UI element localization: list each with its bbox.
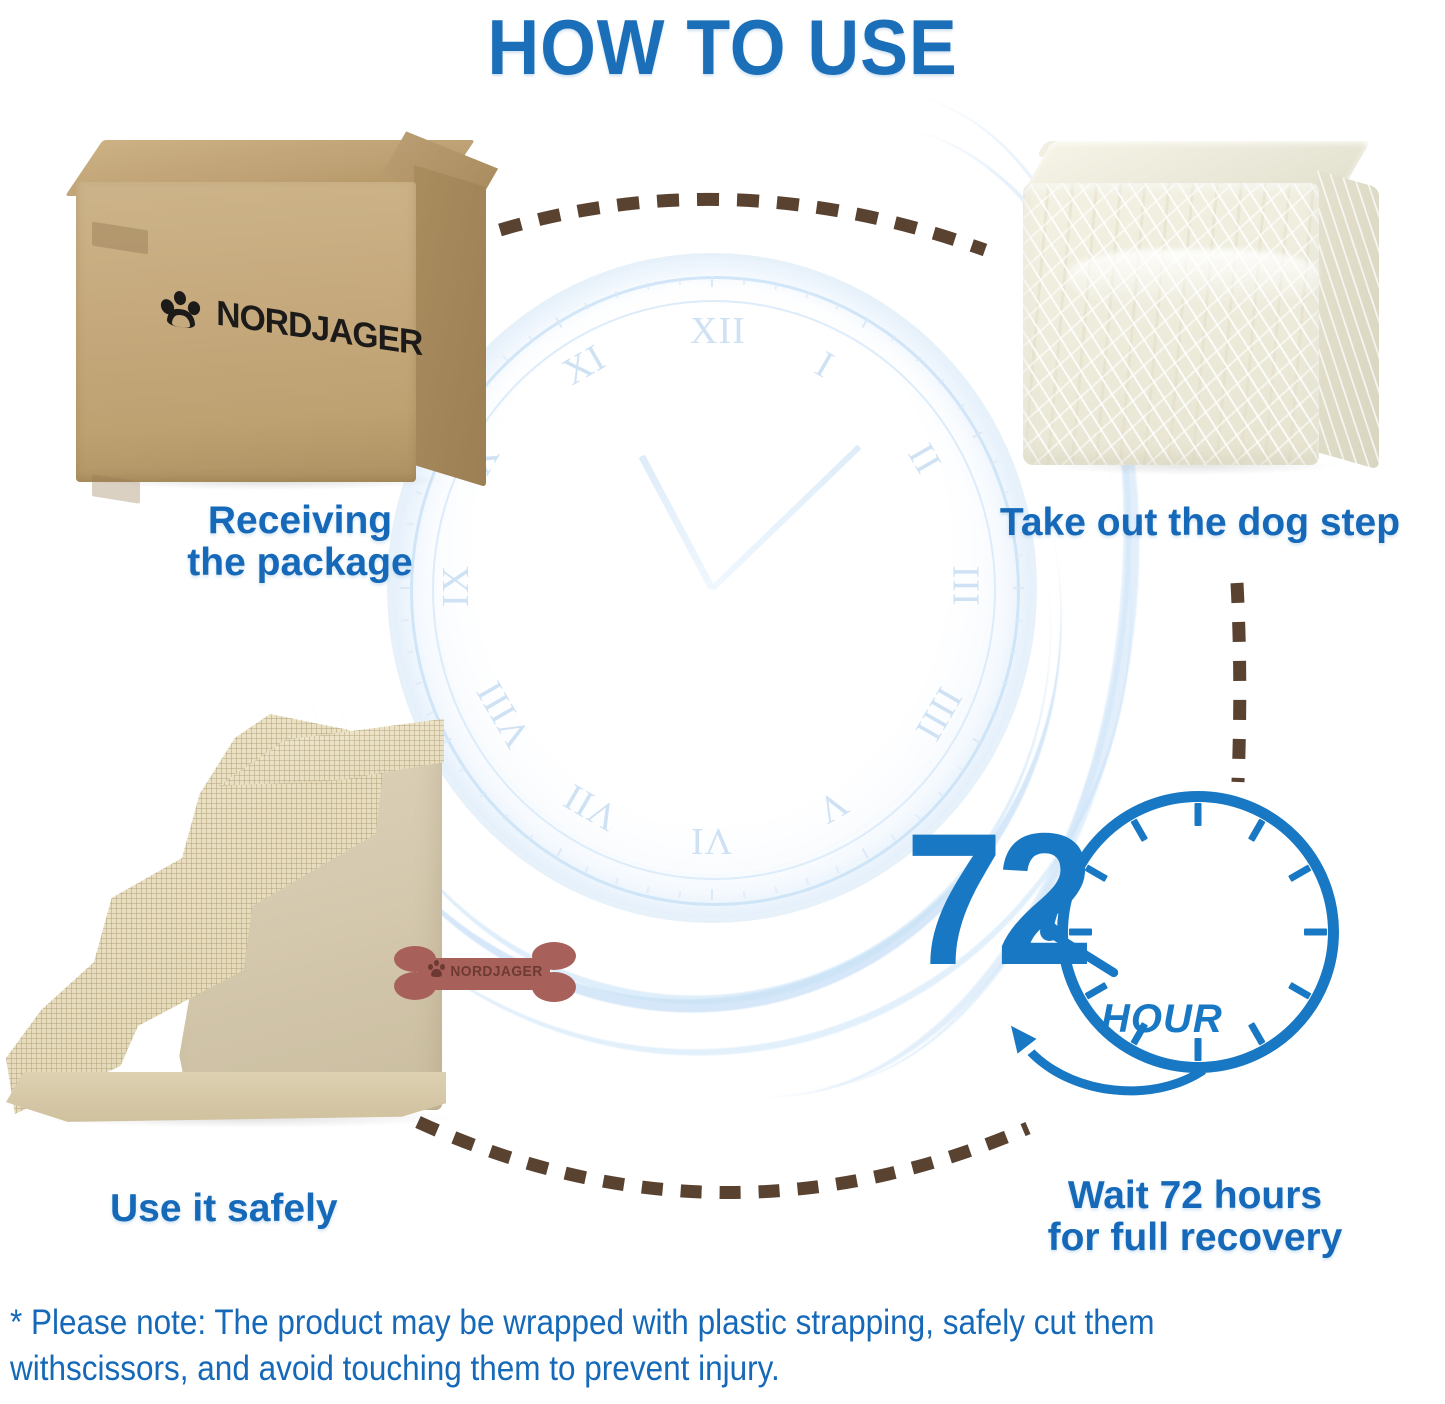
connector-arc-right — [1237, 583, 1240, 782]
watermark-hour-hand — [638, 454, 715, 590]
clock-tick — [1288, 864, 1311, 882]
watermark-numeral: IIII — [905, 679, 970, 748]
watermark-tick — [711, 276, 713, 287]
clock-tick — [1288, 982, 1311, 1000]
watermark-tick — [646, 886, 649, 893]
bone-patch: NORDJAGER — [394, 932, 574, 1016]
wrapped-gloss-highlight — [1069, 249, 1319, 307]
watermark-tick — [646, 283, 649, 290]
clock-tick — [1248, 1022, 1266, 1045]
caption-line-2: the package — [130, 542, 470, 584]
watermark-tick — [1002, 681, 1009, 685]
watermark-numeral: V — [808, 781, 855, 833]
caption-line-1: Use it safely — [110, 1188, 530, 1230]
dog-step-base — [6, 1072, 446, 1124]
watermark-tick — [890, 335, 896, 342]
watermark-tick — [400, 587, 411, 589]
wrapped-front-face — [1023, 183, 1319, 465]
watermark-tick — [915, 355, 921, 362]
clock-unit-label: HOUR — [1101, 997, 1223, 1042]
watermark-tick — [584, 303, 589, 310]
watermark-tick — [958, 766, 965, 772]
clock-number-72: 72 — [905, 805, 1087, 993]
watermark-tick — [502, 355, 508, 362]
watermark-tick — [407, 650, 414, 653]
watermark-tick — [1013, 587, 1024, 589]
plastic-wrapped-product-image — [995, 135, 1400, 495]
dog-step-product-image — [6, 700, 636, 1140]
watermark-tick — [415, 681, 422, 685]
watermark-tick — [862, 848, 869, 859]
watermark-tick — [958, 404, 965, 410]
watermark-numeral: XII — [690, 309, 746, 353]
watermark-tick — [938, 378, 945, 384]
caption-line-1: Wait 72 hours — [985, 1175, 1405, 1217]
watermark-numeral: XI — [554, 336, 612, 395]
watermark-tick — [711, 889, 713, 900]
wrapped-side-face — [1317, 170, 1379, 470]
watermark-tick — [890, 834, 896, 841]
watermark-tick — [1010, 650, 1017, 653]
watermark-tick — [1015, 554, 1022, 557]
caption-take-out-dog-step: Take out the dog step — [955, 502, 1445, 544]
caption-line-2: for full recovery — [985, 1217, 1405, 1259]
watermark-tick — [678, 278, 681, 285]
bone-patch-brand-text: NORDJAGER — [450, 963, 549, 980]
watermark-tick — [743, 278, 746, 285]
infographic-canvas: IIIIIIIIIIVVIVIIVIIIIXXXIXII HOW TO USE … — [0, 0, 1445, 1404]
watermark-tick — [1015, 619, 1022, 622]
footnote-text: * Please note: The product may be wrappe… — [10, 1303, 1155, 1388]
clock-tick — [1130, 819, 1148, 842]
watermark-tick — [678, 891, 681, 898]
watermark-numeral: VI — [690, 819, 732, 863]
cardboard-box-image: NORDJAGER — [62, 140, 487, 500]
caption-use-it-safely: Use it safely — [110, 1188, 530, 1230]
box-tape-seam-top — [92, 222, 148, 255]
caption-line-1: Take out the dog step — [955, 502, 1445, 544]
watermark-tick — [774, 886, 777, 893]
paw-print-icon — [160, 286, 202, 330]
watermark-tick — [972, 738, 983, 745]
caption-receiving-package: Receiving the package — [130, 500, 470, 583]
caption-line-1: Receiving — [130, 500, 470, 542]
connector-arc-top — [500, 199, 985, 250]
watermark-numeral: I — [807, 343, 841, 388]
caption-wait-72-hours: Wait 72 hours for full recovery — [985, 1175, 1405, 1258]
clock-tick — [1085, 864, 1108, 882]
watermark-tick — [402, 619, 409, 622]
watermark-tick — [835, 303, 840, 310]
watermark-numeral: III — [943, 566, 987, 607]
clock-72-hour-graphic: 72 HOUR — [905, 785, 1335, 1115]
watermark-tick — [528, 335, 534, 342]
watermark-tick — [972, 431, 983, 438]
watermark-tick — [615, 291, 619, 298]
clock-tick — [1248, 819, 1266, 842]
watermark-tick — [862, 317, 869, 328]
footnote: * Please note: The product may be wrappe… — [10, 1300, 1288, 1392]
clock-tick — [1195, 803, 1202, 826]
watermark-tick — [990, 711, 997, 716]
watermark-tick — [835, 866, 840, 873]
page-title: HOW TO USE — [58, 2, 1387, 93]
watermark-numeral: II — [899, 436, 951, 482]
watermark-tick — [774, 283, 777, 290]
clock-tick — [1304, 929, 1327, 936]
paw-print-icon — [428, 960, 445, 977]
watermark-tick — [805, 878, 809, 885]
watermark-tick — [743, 891, 746, 898]
watermark-minute-hand — [710, 444, 862, 591]
watermark-tick — [555, 317, 562, 328]
watermark-tick — [805, 291, 809, 298]
